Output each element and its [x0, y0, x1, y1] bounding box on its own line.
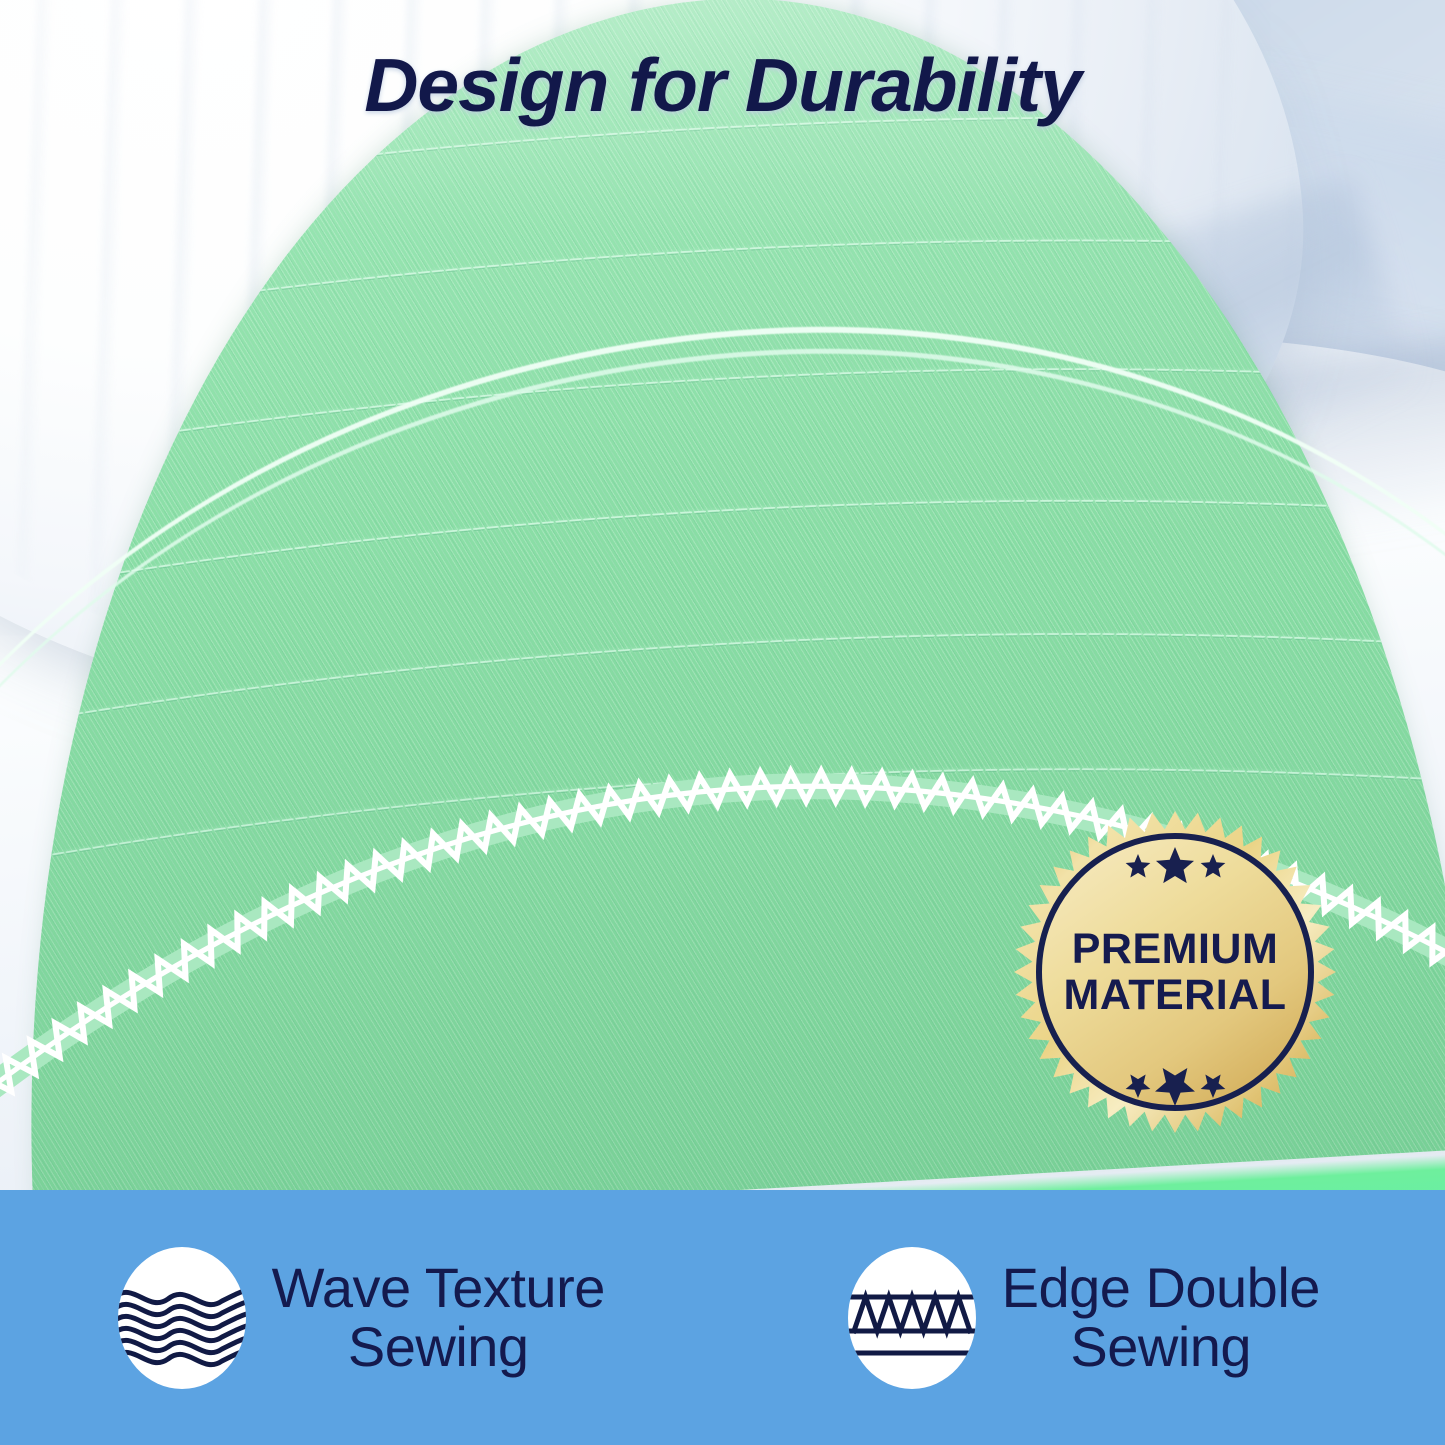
wave-lines-icon — [118, 1247, 246, 1389]
premium-material-badge: PREMIUM MATERIAL — [1010, 800, 1340, 1145]
product-feature-graphic: PREMIUM MATERIAL Design for Durability W… — [0, 0, 1445, 1445]
feature-label-edge-line1: Edge Double — [1002, 1259, 1320, 1317]
wave-line — [118, 1349, 246, 1365]
feature-edge-double-sewing: Edge Double Sewing — [723, 1247, 1445, 1389]
product-photo: PREMIUM MATERIAL — [0, 0, 1445, 1190]
page-title: Design for Durability — [0, 42, 1445, 128]
wave-line — [118, 1325, 246, 1341]
feature-label-edge-line2: Sewing — [1002, 1318, 1320, 1376]
feature-label-wave-line2: Sewing — [272, 1318, 605, 1376]
feature-wave-texture-sewing: Wave Texture Sewing — [0, 1247, 723, 1389]
wave-line — [118, 1313, 246, 1329]
zigzag-stitch-icon — [848, 1247, 976, 1389]
wave-line — [118, 1289, 246, 1305]
feature-label-edge: Edge Double Sewing — [1002, 1259, 1320, 1375]
feature-label-wave: Wave Texture Sewing — [272, 1259, 605, 1375]
feature-label-wave-line1: Wave Texture — [272, 1259, 605, 1317]
feature-bar: Wave Texture Sewing Edge Double Sewing — [0, 1190, 1445, 1445]
wave-line — [118, 1301, 246, 1317]
stitch-zigzag — [854, 1297, 970, 1331]
wave-line — [118, 1337, 246, 1353]
